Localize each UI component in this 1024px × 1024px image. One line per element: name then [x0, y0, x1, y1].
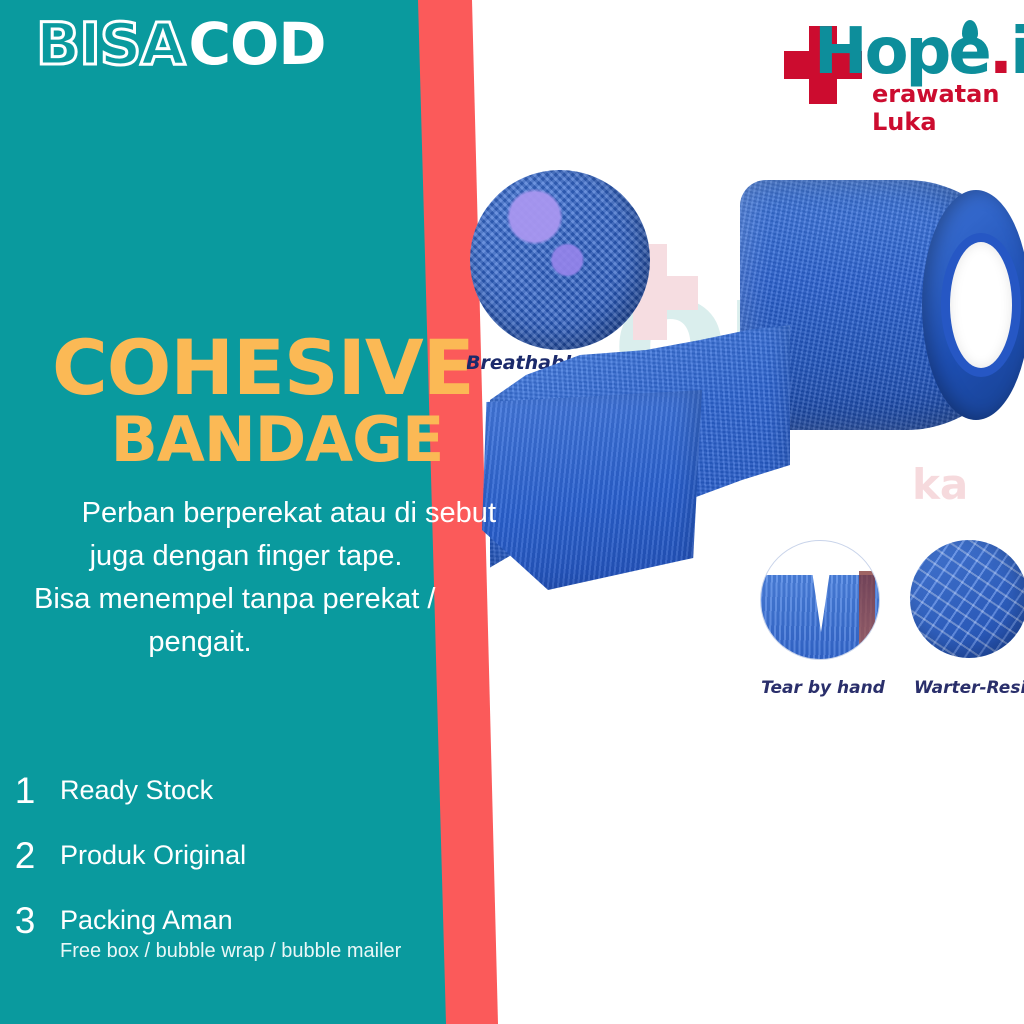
headline-line-1: COHESIVE — [52, 330, 492, 406]
list-item: 2 Produk Original — [12, 837, 452, 874]
feature-title: Packing Aman — [60, 905, 401, 935]
feature-title: Produk Original — [60, 840, 246, 870]
page-title: COHESIVE BANDAGE — [52, 330, 492, 474]
feature-body: Packing Aman Free box / bubble wrap / bu… — [60, 902, 401, 965]
product-promo-poster: ope ka Breathable No-Woven Tear by hand … — [0, 0, 1024, 1024]
product-photo-composite: Breathable No-Woven Tear by hand Warter-… — [430, 140, 1024, 720]
description-line-2: juga dengan finger tape. — [34, 535, 496, 578]
feature-number: 1 — [12, 772, 38, 809]
description-line-1: Perban berperekat atau di sebut — [34, 492, 496, 535]
detail-circle-water-resistant — [910, 540, 1024, 658]
logo-wordmark: Hope.id — [814, 20, 1024, 84]
detail-circle-breathable — [470, 170, 650, 350]
description-line-4: pengait. — [34, 621, 496, 664]
headline-line-2: BANDAGE — [52, 406, 492, 474]
feature-number: 2 — [12, 837, 38, 874]
feature-subtitle: Free box / bubble wrap / bubble mailer — [60, 937, 401, 965]
label-water-resistant: Warter-Resista — [914, 678, 1024, 698]
logo-wordmark-dot: . — [989, 15, 1010, 89]
bandage-strip-end — [482, 390, 702, 590]
label-tear-by-hand: Tear by hand — [748, 678, 898, 698]
bandage-roll-core-hole — [950, 242, 1012, 368]
bisa-label: BISA — [36, 10, 184, 78]
product-description: Perban berperekat atau di sebut juga den… — [34, 492, 496, 664]
logo-wordmark-prefix: Hope — [814, 15, 989, 89]
logo-wordmark-suffix: id — [1010, 15, 1024, 89]
feature-title: Ready Stock — [60, 775, 213, 805]
torn-sheet-edge — [859, 571, 875, 651]
description-line-3: Bisa menempel tanpa perekat / — [34, 578, 496, 621]
hope-id-logo: Hope.id erawatan Luka — [772, 14, 1024, 118]
list-item: 1 Ready Stock — [12, 772, 452, 809]
detail-circle-tear-by-hand — [760, 540, 880, 660]
bisa-cod-badge: BISA COD — [36, 10, 325, 78]
feature-body: Produk Original — [60, 837, 246, 870]
feature-list: 1 Ready Stock 2 Produk Original 3 Packin… — [12, 772, 452, 993]
feature-body: Ready Stock — [60, 772, 213, 805]
cod-label: COD — [188, 10, 325, 78]
feature-number: 3 — [12, 902, 38, 939]
list-item: 3 Packing Aman Free box / bubble wrap / … — [12, 902, 452, 965]
logo-tagline: erawatan Luka — [872, 80, 1024, 136]
